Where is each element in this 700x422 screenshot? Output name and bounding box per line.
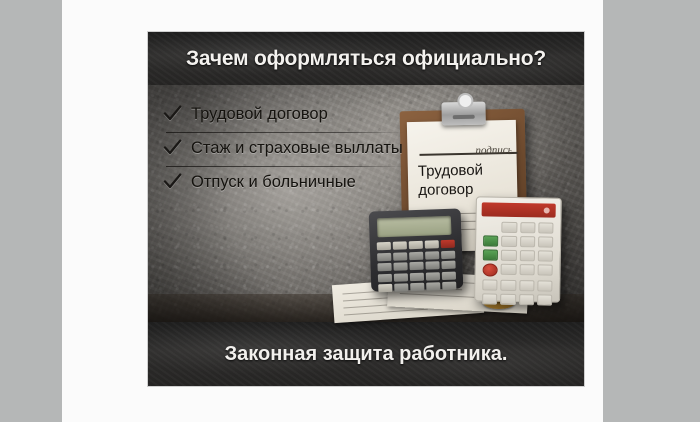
calculator-white [474,196,562,302]
list-item-label: Стаж и страховые выллаты [191,138,403,158]
contract-title: Трудовой договор [418,160,512,200]
check-icon [163,138,182,159]
list-item: Трудовой договор [163,98,415,132]
poster-caption-band: Законная защита работника. [148,322,584,386]
calculator-white-keypad [482,221,553,305]
screenshot-viewport: подпись Трудовой договор [0,0,700,422]
signature-scribble-icon: подпись [475,144,511,157]
calculator-dark-display [377,216,452,238]
calculator-white-display [482,202,556,217]
list-item-label: Отпуск и больничные [191,172,356,192]
poster-image: подпись Трудовой договор [148,32,584,386]
calculator-dark-keypad [377,240,457,293]
check-icon [163,104,182,125]
poster-title-band: Зачем оформляться официально? [148,32,584,85]
calculator-white-body [474,196,562,302]
calculator-dark [369,208,464,291]
list-item-label: Трудовой договор [191,104,328,124]
poster-title: Зачем оформляться официально? [148,32,584,85]
background-gutter-left [0,0,62,422]
benefits-list: Трудовой договор Стаж и страховые выллат… [163,98,415,200]
list-item: Отпуск и больничные [163,166,415,200]
poster-caption: Законная защита работника. [148,322,584,386]
list-item: Стаж и страховые выллаты [163,132,415,166]
background-gutter-right [603,0,700,422]
clipboard-clip-icon [441,102,485,126]
check-icon [163,172,182,193]
calculator-dark-body [369,208,464,291]
